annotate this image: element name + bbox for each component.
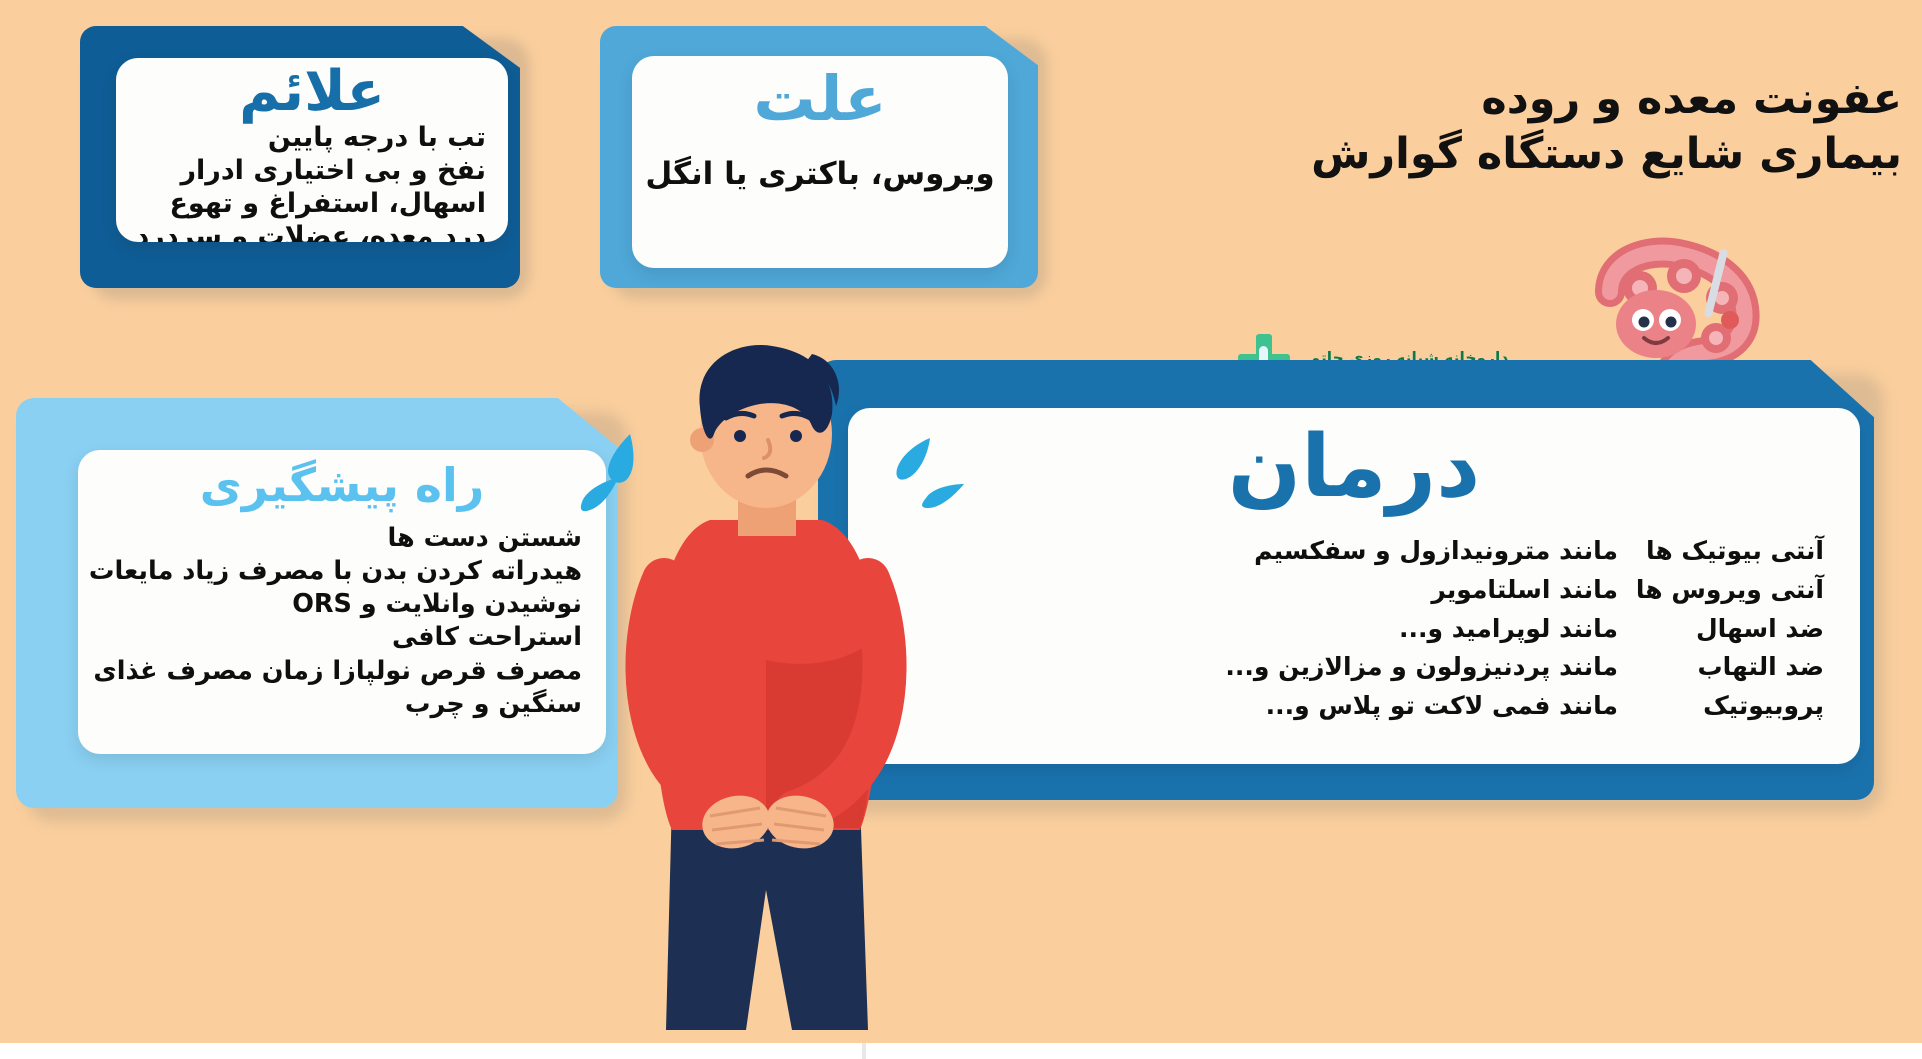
prevention-line: نوشیدن وانلایت و ORS — [90, 588, 582, 621]
treatment-detail: مانند مترونیدازول و سفکسیم — [870, 532, 1644, 571]
infographic-canvas: عفونت معده و روده بیماری شایع دستگاه گوا… — [0, 0, 1922, 1059]
card-cause-title: علت — [632, 68, 1008, 130]
treatment-row: آنتی بیوتیک ها مانند مترونیدازول و سفکسی… — [870, 532, 1824, 571]
treatment-label: پروبیوتیک — [1644, 687, 1824, 726]
cause-line: ویروس، باکتری یا انگل — [632, 156, 1008, 194]
prevention-line: هیدراته کردن بدن با مصرف زیاد مایعات — [90, 555, 582, 588]
treatment-label: آنتی ویروس ها — [1644, 571, 1824, 610]
card-symptoms: علائم تب با درجه پایین نفخ و بی اختیاری … — [80, 26, 520, 288]
treatment-row: آنتی ویروس ها مانند اسلتامویر — [870, 571, 1824, 610]
headline-line-2: بیماری شایع دستگاه گوارش — [1282, 127, 1902, 182]
treatment-list: آنتی بیوتیک ها مانند مترونیدازول و سفکسی… — [848, 532, 1860, 726]
sweat-drop-icon — [560, 380, 980, 580]
card-sheet: راه پیشگیری شستن دست ها هیدراته کردن بدن… — [78, 450, 606, 754]
treatment-detail: مانند لوپرامید و... — [870, 610, 1644, 649]
prevention-line: استراحت کافی — [90, 621, 582, 654]
card-prevention-body: شستن دست ها هیدراته کردن بدن با مصرف زیا… — [78, 508, 606, 721]
treatment-label: ضد التهاب — [1644, 648, 1824, 687]
card-cause-body: ویروس، باکتری یا انگل — [632, 130, 1008, 194]
card-prevention-title: راه پیشگیری — [78, 462, 606, 508]
treatment-detail: مانند اسلتامویر — [870, 571, 1644, 610]
prevention-line: مصرف قرص نولپازا زمان مصرف غذای — [90, 655, 582, 688]
prevention-line: سنگین و چرب — [90, 688, 582, 721]
headline-line-1: عفونت معده و روده — [1282, 72, 1902, 127]
card-sheet: علائم تب با درجه پایین نفخ و بی اختیاری … — [116, 58, 508, 242]
bottom-edge-strip — [0, 1043, 1922, 1059]
prevention-line: شستن دست ها — [90, 522, 582, 555]
treatment-detail: مانند پردنیزولون و مزالازین و... — [870, 648, 1644, 687]
card-cause: علت ویروس، باکتری یا انگل — [600, 26, 1038, 288]
symptom-line: تب با درجه پایین — [130, 122, 486, 155]
treatment-row: ضد التهاب مانند پردنیزولون و مزالازین و.… — [870, 648, 1824, 687]
treatment-label: ضد اسهال — [1644, 610, 1824, 649]
card-symptoms-body: تب با درجه پایین نفخ و بی اختیاری ادرار … — [116, 120, 508, 242]
strip-seam — [862, 1043, 866, 1059]
page-title: عفونت معده و روده بیماری شایع دستگاه گوا… — [1282, 72, 1902, 182]
symptom-line: نفخ و بی اختیاری ادرار — [130, 155, 486, 188]
symptom-line: درد معده، عضلات و سردرد — [130, 221, 486, 242]
symptom-line: اسهال، استفراغ و تهوع — [130, 188, 486, 221]
treatment-row: ضد اسهال مانند لوپرامید و... — [870, 610, 1824, 649]
card-sheet: درمان آنتی بیوتیک ها مانند مترونیدازول و… — [848, 408, 1860, 764]
treatment-row: پروبیوتیک مانند فمی لاکت تو پلاس و... — [870, 687, 1824, 726]
card-symptoms-title: علائم — [116, 64, 508, 120]
card-sheet: علت ویروس، باکتری یا انگل — [632, 56, 1008, 268]
treatment-label: آنتی بیوتیک ها — [1644, 532, 1824, 571]
card-treatment-title: درمان — [848, 424, 1860, 510]
card-prevention: راه پیشگیری شستن دست ها هیدراته کردن بدن… — [16, 398, 618, 808]
treatment-detail: مانند فمی لاکت تو پلاس و... — [870, 687, 1644, 726]
